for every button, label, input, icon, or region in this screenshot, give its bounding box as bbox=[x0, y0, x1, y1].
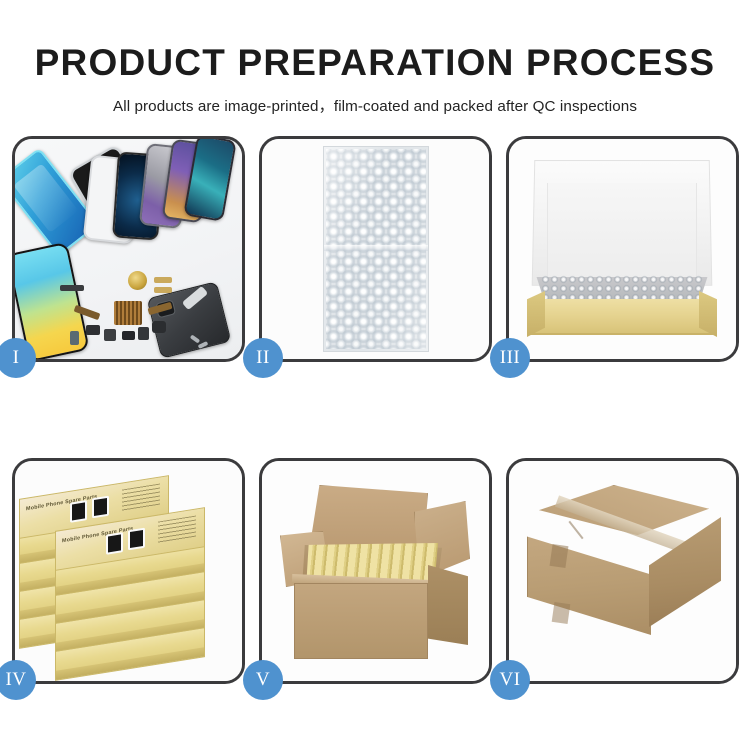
small-part-2-icon bbox=[104, 329, 116, 341]
step-badge-5: V bbox=[243, 660, 283, 700]
open-mailer-box-icon bbox=[527, 153, 717, 343]
step-badge-6: VI bbox=[490, 660, 530, 700]
mesh-grid-icon bbox=[114, 301, 142, 325]
carton-handle-tab-bottom bbox=[552, 602, 571, 624]
screw-1-icon bbox=[190, 334, 200, 343]
process-step-6[interactable]: VI bbox=[506, 458, 739, 684]
bubble-wrap-package-icon bbox=[323, 146, 429, 352]
carton-handle-tab-top bbox=[550, 544, 569, 568]
camera-module-icon bbox=[152, 321, 166, 333]
step-6-image bbox=[509, 461, 736, 681]
box-screen-print-f1 bbox=[106, 532, 123, 555]
box-screen-print-b1 bbox=[70, 500, 87, 523]
earpiece-bar-icon bbox=[60, 285, 84, 291]
carton-top-seam bbox=[568, 521, 583, 540]
process-step-5[interactable]: V bbox=[259, 458, 492, 684]
box-spec-lines-back bbox=[122, 484, 160, 512]
stacked-boxes-icon: Mobile Phone Spare Parts Mobile Phone Sp… bbox=[19, 477, 239, 673]
step-1-image bbox=[15, 139, 242, 359]
flex-cable-3-icon bbox=[154, 277, 172, 283]
flex-cable-2-icon bbox=[148, 302, 173, 315]
spare-parts-cluster bbox=[70, 279, 210, 359]
step-5-image bbox=[262, 461, 489, 681]
carton-body-front bbox=[294, 583, 428, 659]
process-step-2[interactable]: II bbox=[259, 136, 492, 362]
wrap-sheen bbox=[324, 147, 428, 351]
step-badge-4: IV bbox=[0, 660, 36, 700]
page-title: PRODUCT PREPARATION PROCESS bbox=[0, 0, 750, 81]
process-step-4[interactable]: Mobile Phone Spare Parts Mobile Phone Sp… bbox=[12, 458, 245, 684]
process-step-1[interactable]: I bbox=[12, 136, 245, 362]
carton-flap-back bbox=[310, 485, 428, 553]
step-3-image bbox=[509, 139, 736, 359]
sealed-carton-front bbox=[527, 523, 651, 635]
header: PRODUCT PREPARATION PROCESS All products… bbox=[0, 0, 750, 116]
speaker-coil-icon bbox=[128, 271, 147, 290]
step-4-image: Mobile Phone Spare Parts Mobile Phone Sp… bbox=[15, 461, 242, 681]
step-badge-2: II bbox=[243, 338, 283, 378]
mailer-tray-front bbox=[531, 299, 713, 335]
box-spec-lines-front bbox=[158, 516, 196, 544]
bubble-wrapped-contents bbox=[541, 275, 703, 301]
small-part-1-icon bbox=[86, 325, 100, 335]
box-screen-print-b2 bbox=[92, 496, 109, 519]
tweezers-icon bbox=[182, 286, 208, 310]
flex-cable-4-icon bbox=[154, 287, 172, 293]
battery-connector-icon bbox=[70, 331, 79, 345]
product-preparation-infographic: PRODUCT PREPARATION PROCESS All products… bbox=[0, 0, 750, 750]
step-badge-1: I bbox=[0, 338, 36, 378]
small-part-3-icon bbox=[122, 331, 135, 340]
sealed-master-carton-icon bbox=[523, 485, 721, 661]
page-subtitle: All products are image-printed，film-coat… bbox=[0, 81, 750, 116]
open-master-carton-icon bbox=[278, 479, 472, 667]
process-step-grid: I II bbox=[12, 136, 738, 684]
flex-cable-1-icon bbox=[74, 305, 101, 320]
step-badge-3: III bbox=[490, 338, 530, 378]
small-part-4-icon bbox=[138, 327, 149, 340]
carton-body-side bbox=[428, 565, 468, 645]
step-2-image bbox=[262, 139, 489, 359]
box-screen-print-f2 bbox=[128, 528, 145, 551]
process-step-3[interactable]: III bbox=[506, 136, 739, 362]
mailer-lid-inner bbox=[547, 183, 697, 279]
screw-2-icon bbox=[198, 341, 209, 349]
